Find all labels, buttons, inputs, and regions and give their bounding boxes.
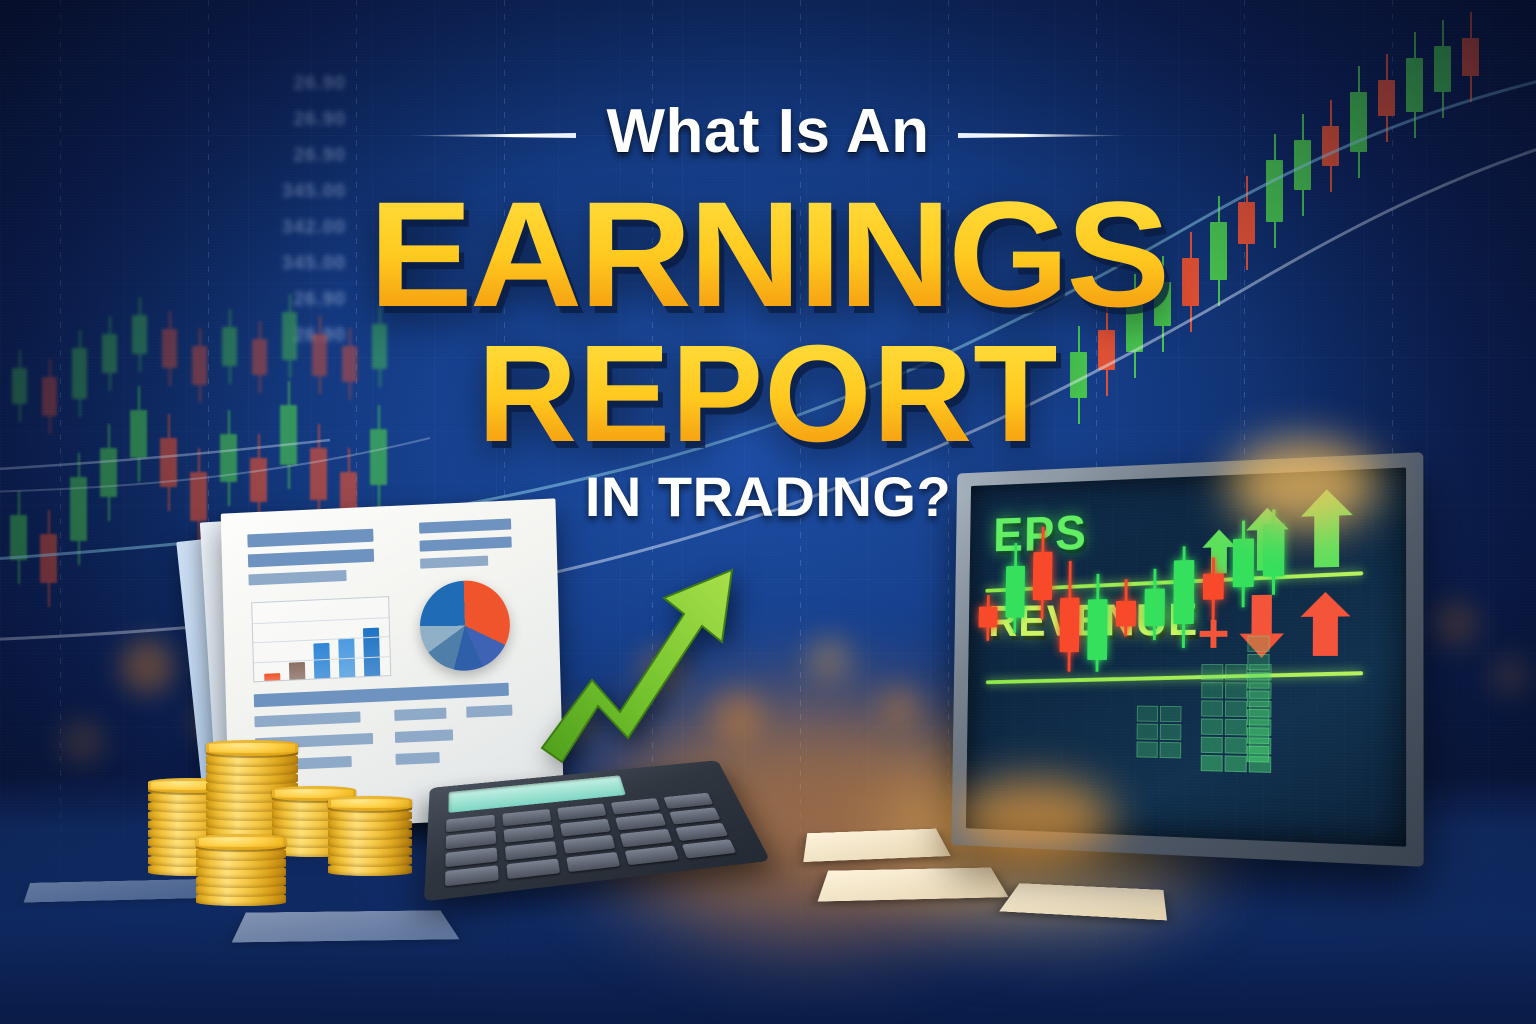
monitor-base-glow xyxy=(954,778,1114,858)
candlestick xyxy=(1200,475,1224,839)
doc-text-bar xyxy=(395,729,453,743)
candlestick xyxy=(1142,478,1166,837)
document-bar xyxy=(363,627,380,676)
candle-body xyxy=(1263,523,1285,576)
doc-text-bar xyxy=(248,570,346,585)
document-bar-chart xyxy=(251,596,391,682)
calculator-key[interactable] xyxy=(615,813,666,831)
calculator-key[interactable] xyxy=(506,859,560,880)
coin-stack xyxy=(196,838,286,915)
candlestick xyxy=(1113,479,1137,835)
candle-body xyxy=(1233,538,1254,587)
doc-text-bar xyxy=(248,549,374,568)
title-subtitle: IN TRADING? xyxy=(0,464,1536,529)
document-bar xyxy=(264,673,280,680)
document-bar xyxy=(313,643,330,679)
document-bar xyxy=(289,662,305,680)
calculator-key[interactable] xyxy=(663,793,713,809)
candle-body xyxy=(1060,598,1080,653)
doc-text-bar xyxy=(420,536,512,551)
document-gridline xyxy=(253,617,389,624)
candle-body xyxy=(1203,573,1224,599)
candle-body xyxy=(1116,601,1136,627)
calculator-key[interactable] xyxy=(446,831,497,850)
doc-text-bar xyxy=(254,712,360,728)
doc-text-bar xyxy=(254,683,509,708)
scattered-paper-2 xyxy=(818,867,1009,901)
calculator-key[interactable] xyxy=(675,823,728,841)
doc-text-bar xyxy=(394,708,446,721)
candle-body xyxy=(1144,588,1165,626)
calculator-key[interactable] xyxy=(566,852,620,872)
calculator-key[interactable] xyxy=(446,815,495,833)
poster-canvas: 26.9026.9026.90345.00342.00345.0026.9026… xyxy=(0,0,1536,1024)
candle-body xyxy=(1087,599,1107,660)
calculator-key[interactable] xyxy=(505,841,557,860)
coin-top-face xyxy=(206,740,298,756)
calculator-key[interactable] xyxy=(445,847,497,867)
calculator-key[interactable] xyxy=(557,803,606,820)
doc-text-bar xyxy=(420,556,488,569)
coin-stack xyxy=(328,800,412,885)
document-pie-chart xyxy=(419,579,511,673)
calculator-key[interactable] xyxy=(669,807,720,824)
candle-body xyxy=(1005,566,1025,618)
coin-top-face xyxy=(196,834,286,850)
calculator-key[interactable] xyxy=(611,798,661,815)
calculator-key[interactable] xyxy=(620,829,673,848)
title-kicker: What Is An xyxy=(0,96,1536,167)
doc-text-bar xyxy=(466,705,512,718)
calculator-key[interactable] xyxy=(502,809,551,826)
doc-text-bar xyxy=(247,529,373,548)
candlestick xyxy=(975,485,1000,830)
calculator-key[interactable] xyxy=(445,865,499,886)
title-line-report: REPORT xyxy=(0,315,1536,474)
candle-body xyxy=(1033,552,1053,600)
calculator-body xyxy=(424,760,770,901)
scattered-paper-4 xyxy=(232,910,460,942)
candle-body xyxy=(979,606,998,627)
candle-body xyxy=(1173,560,1194,624)
coin-top-face xyxy=(328,796,412,811)
calculator-key[interactable] xyxy=(682,839,736,858)
candlestick xyxy=(1084,480,1108,834)
calculator-key[interactable] xyxy=(504,825,555,843)
calculator-key[interactable] xyxy=(560,819,611,837)
calculator-key[interactable] xyxy=(625,845,679,865)
candlestick xyxy=(1171,477,1195,838)
calculator-key[interactable] xyxy=(563,835,615,854)
desk-calculator xyxy=(430,742,748,902)
